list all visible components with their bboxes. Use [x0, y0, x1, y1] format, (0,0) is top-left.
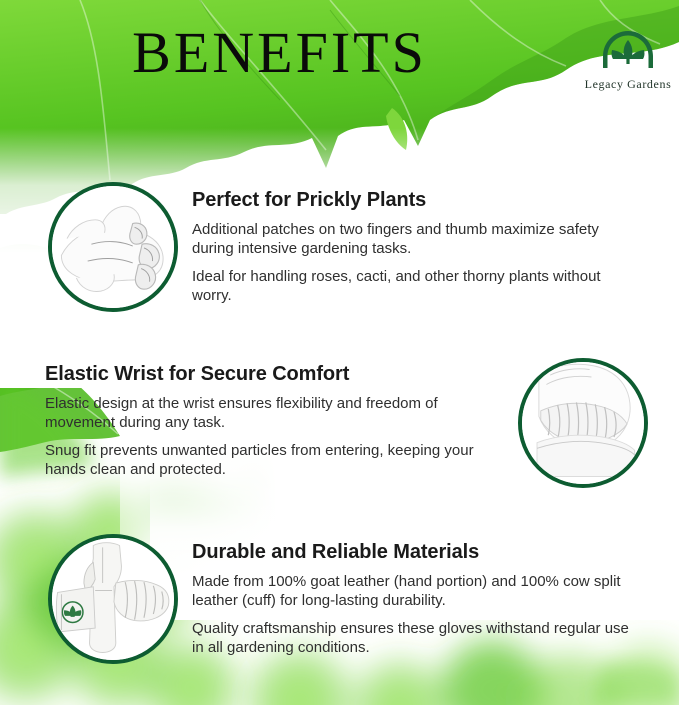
brand-name: Legacy Gardens	[578, 77, 678, 92]
benefit-title: Elastic Wrist for Secure Comfort	[45, 362, 505, 386]
brand-logo: Legacy Gardens	[578, 28, 678, 92]
benefit-paragraph: Made from 100% goat leather (hand portio…	[192, 573, 640, 610]
benefit-title: Perfect for Prickly Plants	[192, 188, 640, 212]
benefit-title: Durable and Reliable Materials	[192, 540, 640, 564]
leaf-arch-emblem-icon	[578, 28, 678, 75]
benefit-paragraph: Quality craftsmanship ensures these glov…	[192, 620, 640, 657]
benefit-paragraph: Snug fit prevents unwanted particles fro…	[45, 442, 505, 479]
benefit-image-elastic-wrist-cuff	[518, 358, 648, 488]
header: BENEFITS Legacy Gardens	[0, 0, 679, 120]
benefit-copy-prickly-plants: Perfect for Prickly Plants Additional pa…	[192, 188, 640, 305]
benefit-paragraph: Ideal for handling roses, cacti, and oth…	[192, 268, 640, 305]
right-leaf-hint	[596, 662, 679, 705]
benefit-image-leather-gloves-long-cuff	[48, 534, 178, 664]
benefit-image-gloves-reinforced-fingers	[48, 182, 178, 312]
benefit-paragraph: Additional patches on two fingers and th…	[192, 221, 640, 258]
benefits-infographic: BENEFITS Legacy Gardens	[0, 0, 679, 705]
benefit-copy-elastic-wrist: Elastic Wrist for Secure Comfort Elastic…	[45, 362, 505, 479]
benefit-copy-durable-materials: Durable and Reliable Materials Made from…	[192, 540, 640, 657]
benefit-paragraph: Elastic design at the wrist ensures flex…	[45, 395, 505, 432]
